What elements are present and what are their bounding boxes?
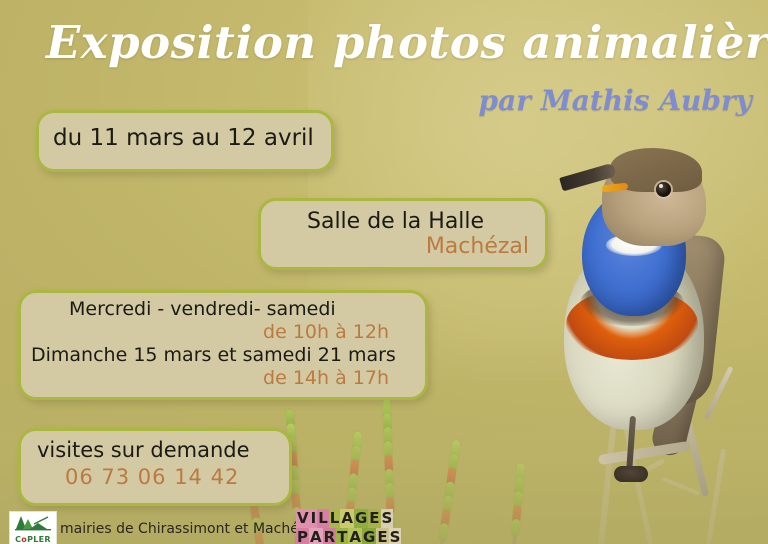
schedule-days-1: Mercredi - vendredi- samedi <box>69 298 336 320</box>
villages-logo-letter: S <box>389 528 402 544</box>
villages-logo-letter: E <box>376 528 388 544</box>
villages-logo-letter: P <box>296 528 309 544</box>
venue-city: Machézal <box>261 234 529 259</box>
visits-label: visites sur demande <box>37 438 250 462</box>
villages-logo-letter: T <box>336 528 348 544</box>
villages-logo-letter: V <box>296 509 310 528</box>
villages-logo-letter: G <box>362 528 376 544</box>
copler-logo-graphic <box>14 514 52 531</box>
villages-logo-letter: A <box>340 509 354 528</box>
villages-partages-logo: VILLAGES PARTAGES <box>296 509 384 544</box>
villages-logo-letter: L <box>317 509 329 528</box>
visits-box: visites sur demande 06 73 06 14 42 <box>18 428 292 506</box>
venue-box: Salle de la Halle Machézal <box>258 198 548 270</box>
copler-logo: CoPLER <box>9 511 57 544</box>
villages-logo-letter: I <box>310 509 318 528</box>
venue-name: Salle de la Halle <box>307 209 484 234</box>
visits-phone[interactable]: 06 73 06 14 42 <box>65 465 239 489</box>
villages-logo-line1: VILLAGES <box>296 509 384 528</box>
villages-logo-letter: R <box>323 528 337 544</box>
schedule-hours-2: de 14h à 17h <box>21 367 389 389</box>
poster: Exposition photos animalières par Mathis… <box>0 0 768 544</box>
villages-logo-letter: E <box>368 509 380 528</box>
villages-logo-letter: S <box>381 509 394 528</box>
dates-box: du 11 mars au 12 avril <box>36 110 334 172</box>
villages-logo-letter: A <box>309 528 323 544</box>
villages-logo-line2: PARTAGES <box>296 528 384 544</box>
schedule-days-2: Dimanche 15 mars et samedi 21 mars <box>31 344 396 366</box>
copler-logo-text: CoPLER <box>10 535 56 544</box>
villages-logo-letter: A <box>348 528 362 544</box>
bluethroat-bird-illustration <box>540 148 750 478</box>
footer-municipalities: mairies de Chirassimont et Machézal <box>60 521 319 537</box>
schedule-hours-1: de 10h à 12h <box>21 321 389 343</box>
villages-logo-letter: L <box>329 509 341 528</box>
schedule-box: Mercredi - vendredi- samedi de 10h à 12h… <box>18 290 428 400</box>
page-title: Exposition photos animalières <box>46 18 706 68</box>
dates-text: du 11 mars au 12 avril <box>53 125 314 151</box>
villages-logo-letter: G <box>354 509 368 528</box>
